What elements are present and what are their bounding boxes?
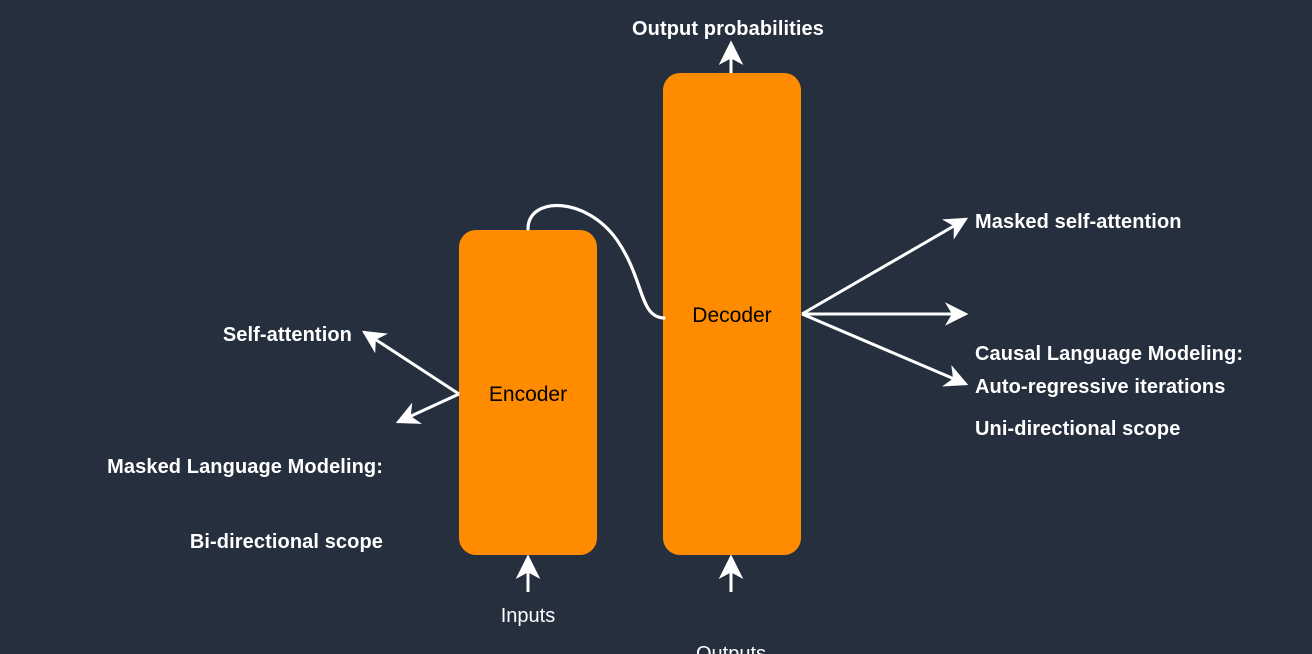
outputs-label-line1: Outputs — [631, 641, 831, 654]
encoder-annotation-self-attention: Self-attention — [0, 323, 352, 348]
encoder-annotation-arrow-masked-language-modeling — [398, 394, 459, 422]
transformer-architecture-diagram: Output probabilities Encoder Decoder Sel… — [0, 0, 1312, 654]
decoder-annotation-arrow-masked-self-attention — [802, 219, 966, 314]
decoder-annotation-clm-line2: Uni-directional scope — [975, 417, 1243, 442]
decoder-annotation-auto-regressive-iterations: Auto-regressive iterations — [975, 375, 1225, 400]
encoder-annotation-masked-language-modeling: Masked Language Modeling: Bi-directional… — [0, 405, 383, 605]
encoder-annotation-mlm-line1: Masked Language Modeling: — [0, 455, 383, 480]
decoder-annotation-masked-self-attention: Masked self-attention — [975, 210, 1182, 235]
decoder-block-label: Decoder — [663, 305, 801, 326]
output-probabilities-label: Output probabilities — [528, 17, 928, 42]
decoder-annotation-arrow-auto-regressive-iterations — [802, 314, 966, 384]
inputs-label: Inputs — [428, 603, 628, 629]
decoder-annotation-clm-line1: Causal Language Modeling: — [975, 342, 1243, 367]
encoder-block-label: Encoder — [459, 384, 597, 405]
outputs-label: Outputs (shifted right) — [631, 589, 831, 654]
encoder-annotation-arrow-self-attention — [364, 332, 459, 394]
encoder-annotation-mlm-line2: Bi-directional scope — [0, 530, 383, 555]
